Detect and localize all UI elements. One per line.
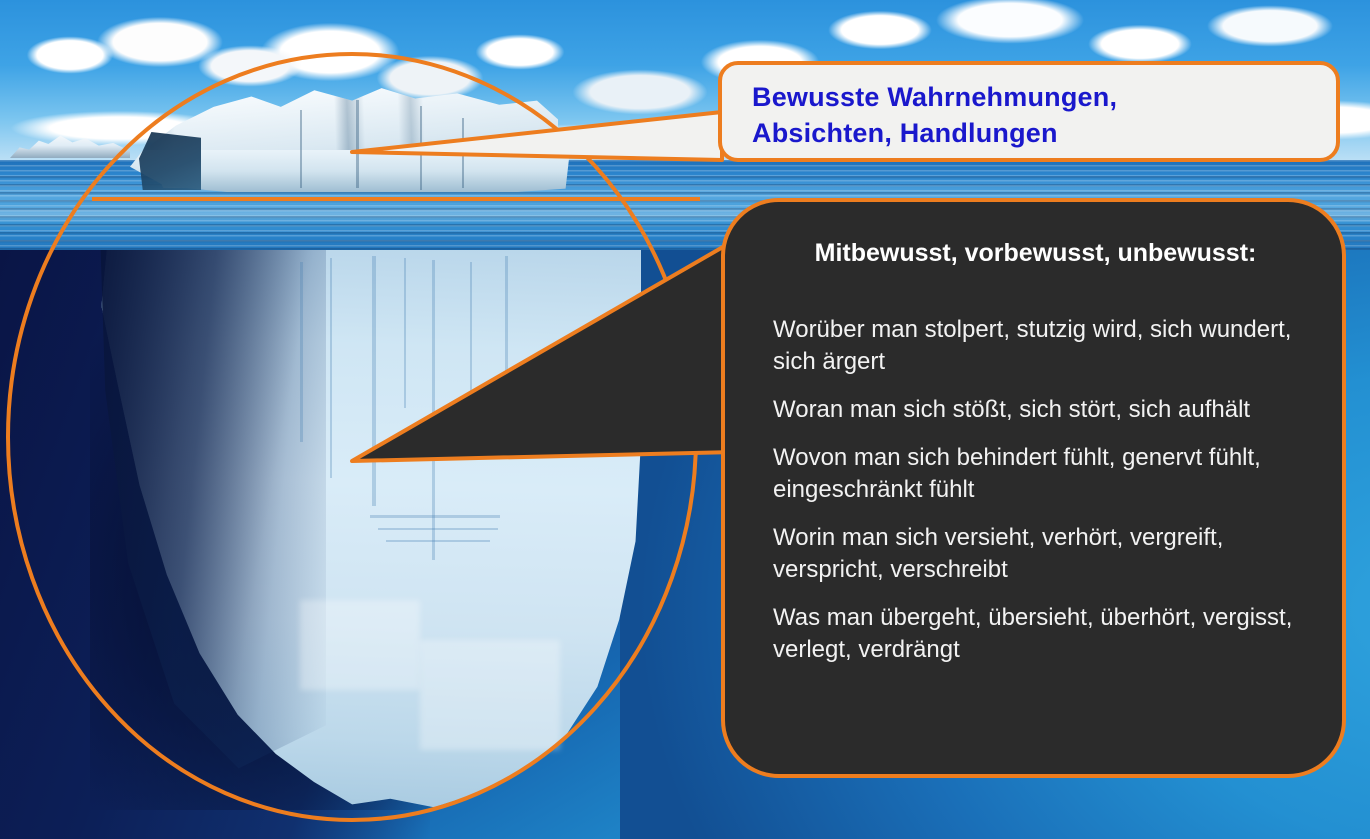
ice-streak — [505, 256, 508, 376]
list-item: Was man übergeht, übersieht, überhört, v… — [765, 602, 1306, 666]
ice-highlight — [300, 600, 420, 690]
callout-unconscious[interactable]: Mitbewusst, vorbewusst, unbewusst: Worüb… — [721, 198, 1346, 778]
iceberg-crack — [300, 110, 302, 188]
list-item: Worin man sich versieht, verhört, vergre… — [765, 522, 1306, 586]
ice-streak-h — [386, 540, 490, 542]
iceberg-crack — [462, 118, 464, 188]
iceberg-crack — [420, 106, 422, 190]
ice-highlight — [420, 640, 560, 750]
ice-streak — [330, 258, 332, 478]
ice-streak-h — [370, 515, 500, 518]
ice-streak — [404, 258, 406, 408]
iceberg-crack — [356, 100, 359, 188]
callout-conscious-line-1: Bewusste Wahrnehmungen, — [752, 79, 1336, 115]
list-item: Wovon man sich behindert fühlt, genervt … — [765, 442, 1306, 506]
callout-unconscious-title: Mitbewusst, vorbewusst, unbewusst: — [765, 228, 1306, 270]
callout-unconscious-list: Worüber man stolpert, stutzig wird, sich… — [765, 314, 1306, 666]
callout-conscious[interactable]: Bewusste Wahrnehmungen, Absichten, Handl… — [718, 61, 1340, 162]
iceberg-dark-notch — [139, 132, 201, 190]
ice-streak — [372, 256, 376, 506]
list-item: Worüber man stolpert, stutzig wird, sich… — [765, 314, 1306, 378]
list-item: Woran man sich stößt, sich stört, sich a… — [765, 394, 1306, 426]
ice-streak-h — [378, 528, 498, 530]
ice-streak — [470, 262, 472, 452]
callout-conscious-line-2: Absichten, Handlungen — [752, 115, 1336, 151]
ice-streak — [300, 262, 303, 442]
slide-canvas: Bewusste Wahrnehmungen, Absichten, Handl… — [0, 0, 1370, 839]
